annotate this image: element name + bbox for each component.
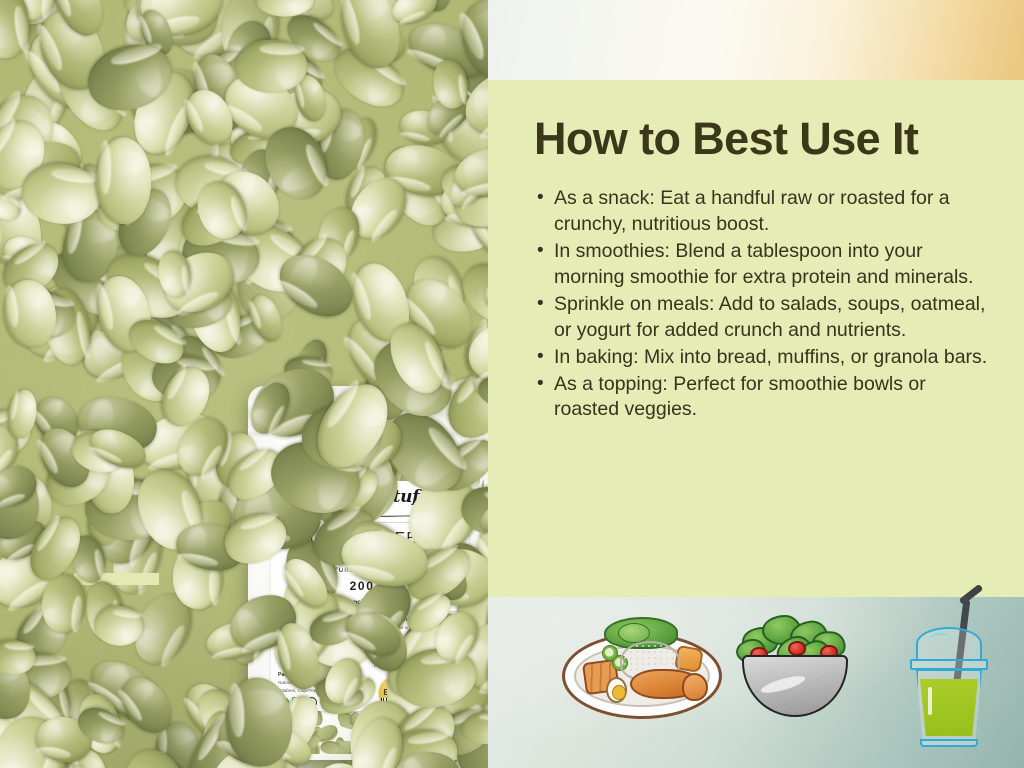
content-area: How to Best Use It As a snack: Eat a han… bbox=[488, 80, 1024, 597]
pumpkin-seeds-photo: NaturalStuff PUMPKIN SEEDS NATURAL SUPER… bbox=[0, 0, 488, 768]
meal-plate-icon bbox=[562, 611, 722, 731]
usage-bullet-list: As a snack: Eat a handful raw or roasted… bbox=[534, 186, 988, 423]
page-title: How to Best Use It bbox=[534, 108, 988, 170]
usage-bullet-item: As a snack: Eat a handful raw or roasted… bbox=[534, 186, 988, 238]
content-panel: How to Best Use It As a snack: Eat a han… bbox=[488, 0, 1024, 768]
usage-bullet-item: In baking: Mix into bread, muffins, or g… bbox=[534, 345, 988, 371]
food-illustration-band bbox=[488, 597, 1024, 768]
seed-texture bbox=[0, 0, 488, 768]
smoothie-cup-icon bbox=[906, 605, 992, 747]
usage-bullet-item: Sprinkle on meals: Add to salads, soups,… bbox=[534, 292, 988, 344]
usage-bullet-item: As a topping: Perfect for smoothie bowls… bbox=[534, 372, 988, 424]
salad-bowl-icon bbox=[736, 613, 854, 723]
top-gradient-band bbox=[488, 0, 1024, 80]
slide-canvas: NaturalStuff PUMPKIN SEEDS NATURAL SUPER… bbox=[0, 0, 1024, 768]
usage-bullet-item: In smoothies: Blend a tablespoon into yo… bbox=[534, 239, 988, 291]
